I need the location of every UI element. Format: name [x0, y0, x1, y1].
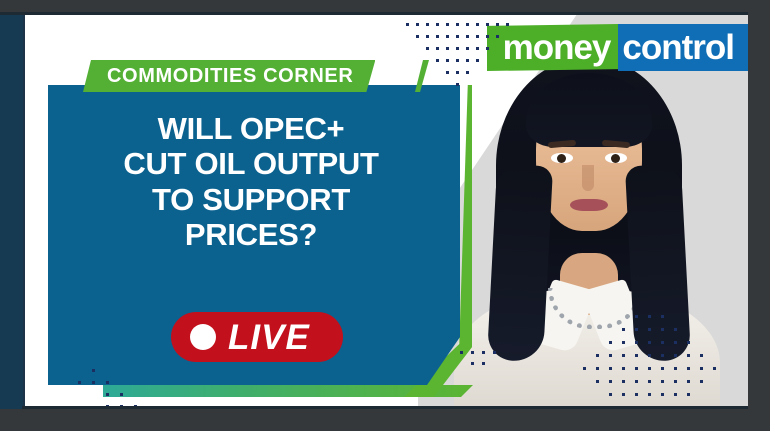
frame-band-bottom: [0, 409, 770, 431]
live-dot-icon: [190, 324, 216, 350]
video-thumbnail: WILL OPEC+ CUT OIL OUTPUT TO SUPPORT PRI…: [0, 0, 770, 431]
frame-left-gutter: [0, 0, 23, 431]
headline-line-4: PRICES?: [56, 217, 446, 252]
headline-line-3: TO SUPPORT: [56, 182, 446, 217]
headline-line-2: CUT OIL OUTPUT: [56, 146, 446, 181]
portrait-eye-left: [551, 153, 573, 163]
frame-band-right: [748, 0, 770, 431]
dot-pattern-bottom-center: [460, 351, 500, 407]
portrait-nose: [582, 165, 594, 191]
canvas-left-rule: [23, 15, 25, 407]
corner-notch: [48, 385, 103, 407]
dot-pattern-top: [406, 23, 516, 119]
dot-pattern-photo: [583, 315, 733, 407]
frame-band-top: [0, 0, 770, 12]
portrait-hair-strand-left: [487, 164, 553, 363]
logo-control-text: control: [618, 24, 748, 71]
portrait-lips: [570, 199, 608, 211]
live-label: LIVE: [228, 320, 310, 355]
section-banner: COMMODITIES CORNER: [83, 60, 375, 92]
page-title: WILL OPEC+ CUT OIL OUTPUT TO SUPPORT PRI…: [56, 111, 446, 252]
portrait-eye-right: [605, 153, 627, 163]
headline-line-1: WILL OPEC+: [56, 111, 446, 146]
status-badge: LIVE: [171, 312, 343, 362]
frame-hairline-top: [0, 12, 770, 15]
moneycontrol-logo: money control: [487, 24, 748, 71]
section-banner-label: COMMODITIES CORNER: [107, 65, 353, 88]
thumbnail-canvas: WILL OPEC+ CUT OIL OUTPUT TO SUPPORT PRI…: [23, 15, 748, 407]
